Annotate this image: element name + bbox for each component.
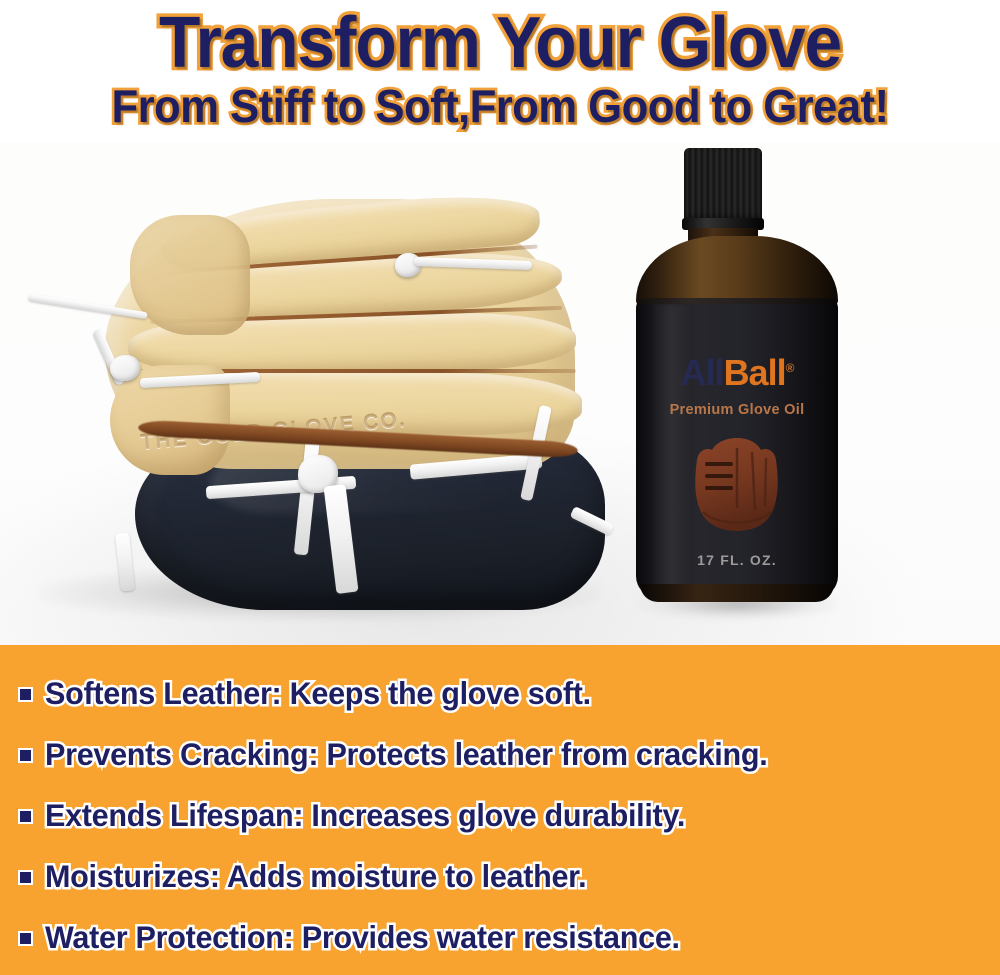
benefits-section: Softens Leather: Keeps the glove soft. P… bbox=[0, 645, 1000, 975]
headline-banner: Transform Your Glove From Stiff to Soft,… bbox=[0, 0, 1000, 142]
baseball-glove-photo: THE GOLD GLOVE CO. bbox=[10, 185, 630, 625]
headline-secondary: From Stiff to Soft,From Good to Great! bbox=[25, 83, 975, 129]
headline-primary: Transform Your Glove bbox=[30, 7, 970, 79]
baseball-glove-icon bbox=[687, 434, 787, 542]
bottle-label: AllBall® Premium Glove Oil bbox=[636, 304, 838, 592]
label-sheen bbox=[650, 304, 692, 592]
registered-trademark-icon: ® bbox=[786, 361, 794, 375]
bullet-square-icon bbox=[18, 687, 33, 702]
benefit-item: Extends Lifespan: Increases glove durabi… bbox=[0, 785, 1000, 846]
benefit-label: Moisturizes: Adds moisture to leather. bbox=[45, 858, 586, 895]
bullet-square-icon bbox=[18, 931, 33, 946]
bottle-volume: 17 FL. OZ. bbox=[636, 552, 838, 568]
benefit-label: Extends Lifespan: Increases glove durabi… bbox=[45, 797, 685, 834]
bullet-square-icon bbox=[18, 748, 33, 763]
benefit-label: Prevents Cracking: Protects leather from… bbox=[45, 736, 767, 773]
bullet-square-icon bbox=[18, 870, 33, 885]
product-infographic: Transform Your Glove From Stiff to Soft,… bbox=[0, 0, 1000, 975]
benefit-label: Water Protection: Provides water resista… bbox=[45, 919, 680, 956]
glove-lace-knot-1 bbox=[110, 355, 140, 381]
brand-name-part2: Ball bbox=[724, 352, 786, 393]
benefit-item: Moisturizes: Adds moisture to leather. bbox=[0, 846, 1000, 907]
brand-name-part1: All bbox=[681, 352, 724, 393]
brand-logo: AllBall® bbox=[636, 352, 838, 394]
benefit-item: Softens Leather: Keeps the glove soft. bbox=[0, 663, 1000, 724]
benefit-label: Softens Leather: Keeps the glove soft. bbox=[45, 675, 591, 712]
glove-web bbox=[130, 215, 250, 335]
benefit-item: Water Protection: Provides water resista… bbox=[0, 907, 1000, 968]
benefit-item: Prevents Cracking: Protects leather from… bbox=[0, 724, 1000, 785]
product-tagline: Premium Glove Oil bbox=[636, 402, 838, 418]
product-photo: THE GOLD GLOVE CO. bbox=[0, 140, 1000, 645]
bullet-square-icon bbox=[18, 809, 33, 824]
bottle-cap bbox=[684, 148, 762, 223]
glove-oil-bottle: AllBall® Premium Glove Oil bbox=[630, 148, 845, 626]
bottle-base bbox=[640, 584, 834, 602]
